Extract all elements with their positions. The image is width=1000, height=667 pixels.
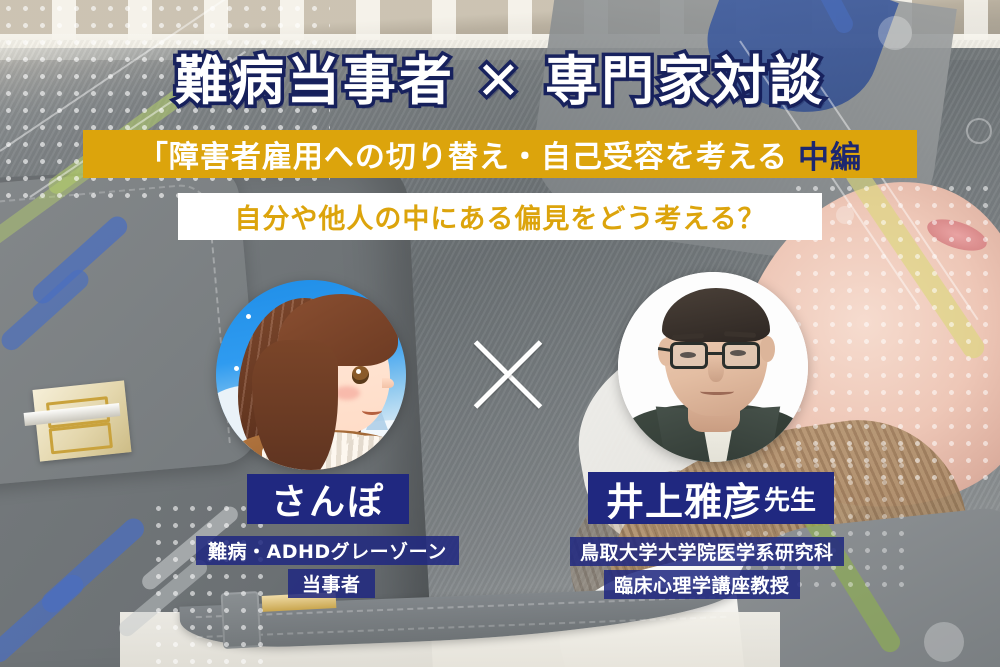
photo-bag-strap-loop: [221, 591, 262, 649]
illustration-mouth: [362, 406, 382, 415]
subtitle-gold-bar: 「障害者雇用への切り替え・自己受容を考える 中編: [83, 130, 917, 178]
glasses-icon-left-lens: [670, 342, 708, 369]
avatar-photo-man: [618, 272, 808, 462]
speaker-left-subtitle-2: 当事者: [288, 569, 375, 598]
x-cross-icon: [466, 332, 550, 416]
episode-badge: 中編: [798, 132, 862, 177]
glasses-icon-right-lens: [722, 342, 760, 369]
speaker-right-subtitle-2: 臨床心理学講座教授: [604, 570, 800, 599]
photo-avatar-mouth: [700, 388, 734, 395]
speaker-left-name: さんぽ: [247, 474, 409, 524]
illustration-nose: [382, 378, 394, 388]
photo-avatar-ear-right: [760, 336, 775, 362]
promo-banner: 難病当事者 ✕ 専門家対談 「障害者雇用への切り替え・自己受容を考える 中編 自…: [0, 0, 1000, 667]
glasses-icon-bridge: [708, 352, 722, 355]
subtitle-gold-text: 「障害者雇用への切り替え・自己受容を考える: [138, 132, 788, 176]
speaker-right-name-suffix: 先生: [764, 480, 816, 517]
subtitle-white-text: 自分や他人の中にある偏見をどう考える？: [234, 197, 765, 236]
illustration-snowflake-1: [246, 314, 251, 319]
speaker-right-subtitle-1: 鳥取大学大学院医学系研究科: [570, 537, 844, 566]
page-title: 難病当事者 ✕ 専門家対談: [0, 52, 1000, 112]
illustration-snowflake-3: [234, 366, 239, 371]
subtitle-white-bar: 自分や他人の中にある偏見をどう考える？: [178, 193, 822, 240]
speaker-right-name: 井上雅彦 先生: [588, 472, 834, 524]
illustration-hair-front: [252, 340, 338, 470]
speaker-right-name-text: 井上雅彦: [606, 471, 762, 526]
photo-avatar-nose: [708, 356, 724, 382]
avatar-illustration-woman: [216, 280, 406, 470]
speaker-left-subtitle-1: 難病・ADHDグレーゾーン: [196, 536, 459, 565]
